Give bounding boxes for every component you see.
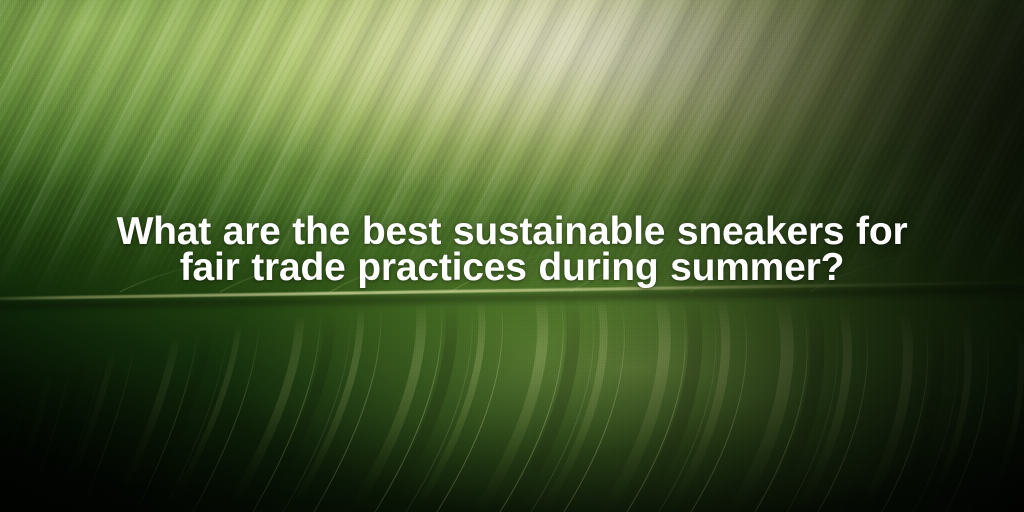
hero-banner: What are the best sustainable sneakers f… [0, 0, 1024, 512]
headline-block: What are the best sustainable sneakers f… [0, 214, 1024, 286]
page-title: What are the best sustainable sneakers f… [112, 214, 912, 286]
